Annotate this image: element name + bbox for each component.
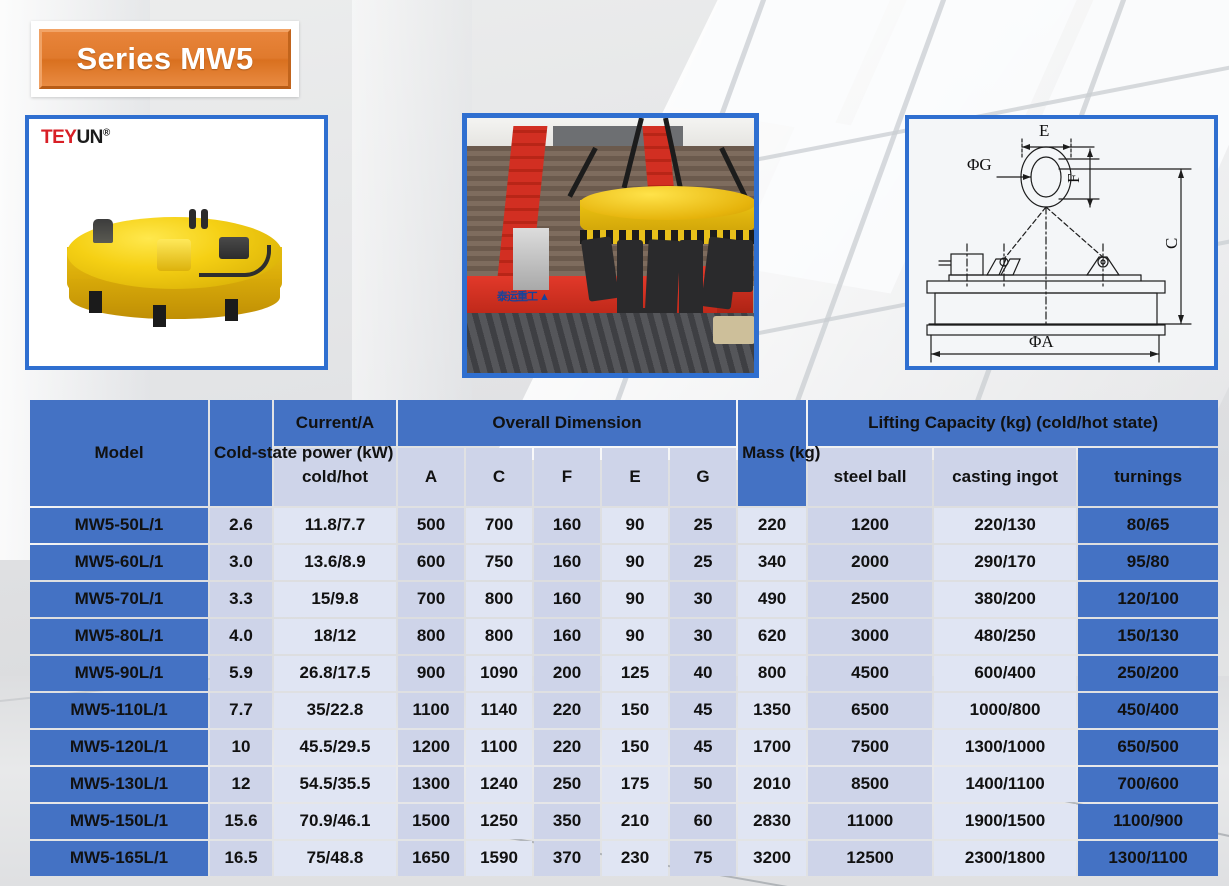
col-header-c: C	[466, 448, 532, 506]
cell-mass: 340	[738, 545, 806, 580]
cell-turnings: 700/600	[1078, 767, 1218, 802]
cell-dim-e: 150	[602, 693, 668, 728]
lifting-magnet-illustration	[29, 119, 324, 366]
col-header-f: F	[534, 448, 600, 506]
cell-current: 45.5/29.5	[274, 730, 396, 765]
col-header-g: G	[670, 448, 736, 506]
cell-model: MW5-110L/1	[30, 693, 208, 728]
cell-power: 5.9	[210, 656, 272, 691]
table-row: MW5-90L/15.926.8/17.59001090200125408004…	[30, 656, 1218, 691]
table-row: MW5-165L/116.575/48.81650159037023075320…	[30, 841, 1218, 876]
cell-turnings: 80/65	[1078, 508, 1218, 543]
specification-table: Model Cold-state power (kW) Current/A Ov…	[28, 398, 1220, 878]
cell-dim-f: 160	[534, 545, 600, 580]
cell-dim-f: 160	[534, 582, 600, 617]
table-row: MW5-70L/13.315/9.87008001609030490250038…	[30, 582, 1218, 617]
cell-current: 18/12	[274, 619, 396, 654]
cell-model: MW5-80L/1	[30, 619, 208, 654]
cell-dim-c: 1590	[466, 841, 532, 876]
drawing-label-e: E	[1039, 121, 1049, 140]
cell-current: 26.8/17.5	[274, 656, 396, 691]
cell-dim-c: 1250	[466, 804, 532, 839]
cell-power: 4.0	[210, 619, 272, 654]
cell-model: MW5-50L/1	[30, 508, 208, 543]
cell-casting-ingot: 1900/1500	[934, 804, 1076, 839]
table-row: MW5-60L/13.013.6/8.960075016090253402000…	[30, 545, 1218, 580]
col-header-cold-state-power: Cold-state power (kW)	[210, 400, 272, 506]
cell-dim-f: 250	[534, 767, 600, 802]
table-row: MW5-50L/12.611.8/7.750070016090252201200…	[30, 508, 1218, 543]
cell-power: 7.7	[210, 693, 272, 728]
cell-model: MW5-130L/1	[30, 767, 208, 802]
cell-dim-g: 50	[670, 767, 736, 802]
cell-power: 2.6	[210, 508, 272, 543]
cell-casting-ingot: 220/130	[934, 508, 1076, 543]
cell-turnings: 450/400	[1078, 693, 1218, 728]
cell-turnings: 150/130	[1078, 619, 1218, 654]
cell-model: MW5-165L/1	[30, 841, 208, 876]
cell-dim-e: 90	[602, 619, 668, 654]
cell-steel-ball: 2000	[808, 545, 932, 580]
cell-dim-g: 25	[670, 508, 736, 543]
cell-casting-ingot: 290/170	[934, 545, 1076, 580]
table-row: MW5-110L/17.735/22.811001140220150451350…	[30, 693, 1218, 728]
cell-dim-a: 600	[398, 545, 464, 580]
cell-turnings: 95/80	[1078, 545, 1218, 580]
cell-casting-ingot: 1300/1000	[934, 730, 1076, 765]
cell-mass: 490	[738, 582, 806, 617]
cell-dim-f: 370	[534, 841, 600, 876]
cell-casting-ingot: 600/400	[934, 656, 1076, 691]
cell-dim-e: 175	[602, 767, 668, 802]
cell-casting-ingot: 1400/1100	[934, 767, 1076, 802]
cell-casting-ingot: 380/200	[934, 582, 1076, 617]
cell-dim-f: 200	[534, 656, 600, 691]
cell-dim-c: 1140	[466, 693, 532, 728]
cell-dim-g: 75	[670, 841, 736, 876]
cell-power: 10	[210, 730, 272, 765]
cell-dim-e: 90	[602, 545, 668, 580]
cell-dim-a: 700	[398, 582, 464, 617]
cell-model: MW5-70L/1	[30, 582, 208, 617]
cell-power: 15.6	[210, 804, 272, 839]
cell-dim-c: 1240	[466, 767, 532, 802]
cell-power: 16.5	[210, 841, 272, 876]
cell-turnings: 650/500	[1078, 730, 1218, 765]
cell-steel-ball: 1200	[808, 508, 932, 543]
cell-dim-e: 90	[602, 582, 668, 617]
cell-dim-c: 800	[466, 619, 532, 654]
cell-steel-ball: 6500	[808, 693, 932, 728]
cell-dim-f: 220	[534, 693, 600, 728]
cell-mass: 800	[738, 656, 806, 691]
cell-dim-f: 160	[534, 619, 600, 654]
cell-dim-c: 750	[466, 545, 532, 580]
cell-power: 3.0	[210, 545, 272, 580]
drawing-label-c: C	[1162, 238, 1181, 249]
cell-dim-a: 1500	[398, 804, 464, 839]
cell-dim-a: 500	[398, 508, 464, 543]
table-body: MW5-50L/12.611.8/7.750070016090252201200…	[30, 508, 1218, 876]
cell-current: 13.6/8.9	[274, 545, 396, 580]
cell-dim-g: 30	[670, 582, 736, 617]
cell-current: 15/9.8	[274, 582, 396, 617]
cell-steel-ball: 8500	[808, 767, 932, 802]
cell-steel-ball: 2500	[808, 582, 932, 617]
cell-turnings: 1100/900	[1078, 804, 1218, 839]
cell-mass: 3200	[738, 841, 806, 876]
cell-casting-ingot: 1000/800	[934, 693, 1076, 728]
table-row: MW5-150L/115.670.9/46.115001250350210602…	[30, 804, 1218, 839]
cell-dim-f: 160	[534, 508, 600, 543]
col-header-steel-ball: steel ball	[808, 448, 932, 506]
cell-dim-a: 1650	[398, 841, 464, 876]
cell-dim-g: 40	[670, 656, 736, 691]
cell-model: MW5-60L/1	[30, 545, 208, 580]
drawing-label-a: ΦA	[1029, 332, 1054, 351]
table-header-row-top: Model Cold-state power (kW) Current/A Ov…	[30, 400, 1218, 446]
cell-dim-c: 800	[466, 582, 532, 617]
col-header-casting-ingot: casting ingot	[934, 448, 1076, 506]
cell-mass: 2010	[738, 767, 806, 802]
technical-drawing: E ΦG F C ΦA	[905, 115, 1218, 370]
col-header-mass: Mass (kg)	[738, 400, 806, 506]
cell-mass: 620	[738, 619, 806, 654]
cell-mass: 1700	[738, 730, 806, 765]
product-photo: TEYUN®	[25, 115, 328, 370]
cell-dim-g: 60	[670, 804, 736, 839]
cell-dim-f: 220	[534, 730, 600, 765]
table-row: MW5-80L/14.018/1280080016090306203000480…	[30, 619, 1218, 654]
cell-dim-a: 1200	[398, 730, 464, 765]
cell-steel-ball: 7500	[808, 730, 932, 765]
cell-model: MW5-150L/1	[30, 804, 208, 839]
cell-dim-e: 210	[602, 804, 668, 839]
cell-model: MW5-90L/1	[30, 656, 208, 691]
cell-mass: 220	[738, 508, 806, 543]
col-header-lifting-capacity: Lifting Capacity (kg) (cold/hot state)	[808, 400, 1218, 446]
cell-dim-g: 45	[670, 693, 736, 728]
cell-current: 70.9/46.1	[274, 804, 396, 839]
cell-dim-a: 1300	[398, 767, 464, 802]
cell-current: 35/22.8	[274, 693, 396, 728]
cell-turnings: 120/100	[1078, 582, 1218, 617]
cell-turnings: 1300/1100	[1078, 841, 1218, 876]
cell-steel-ball: 11000	[808, 804, 932, 839]
cell-dim-c: 700	[466, 508, 532, 543]
cell-model: MW5-120L/1	[30, 730, 208, 765]
col-header-e: E	[602, 448, 668, 506]
col-header-model: Model	[30, 400, 208, 506]
cell-turnings: 250/200	[1078, 656, 1218, 691]
cell-mass: 2830	[738, 804, 806, 839]
cell-dim-a: 800	[398, 619, 464, 654]
slide-canvas: Series MW5 TEYUN®	[0, 0, 1229, 886]
col-header-current: Current/A	[274, 400, 396, 446]
cell-dim-a: 1100	[398, 693, 464, 728]
cell-power: 3.3	[210, 582, 272, 617]
cell-power: 12	[210, 767, 272, 802]
page-title: Series MW5	[76, 41, 253, 77]
title-banner-inner: Series MW5	[39, 29, 291, 89]
cell-steel-ball: 12500	[808, 841, 932, 876]
cell-dim-e: 230	[602, 841, 668, 876]
cell-mass: 1350	[738, 693, 806, 728]
cell-steel-ball: 3000	[808, 619, 932, 654]
cell-dim-e: 90	[602, 508, 668, 543]
table-header-row-sub: cold/hot A C F E G steel ball casting in…	[30, 448, 1218, 506]
cell-dim-g: 45	[670, 730, 736, 765]
cell-dim-g: 25	[670, 545, 736, 580]
cell-casting-ingot: 2300/1800	[934, 841, 1076, 876]
cell-current: 54.5/35.5	[274, 767, 396, 802]
col-header-overall-dimension: Overall Dimension	[398, 400, 736, 446]
cell-dim-f: 350	[534, 804, 600, 839]
table-header: Model Cold-state power (kW) Current/A Ov…	[30, 400, 1218, 506]
drawing-label-g: ΦG	[967, 155, 992, 174]
cell-dim-g: 30	[670, 619, 736, 654]
title-banner: Series MW5	[31, 21, 299, 97]
cell-casting-ingot: 480/250	[934, 619, 1076, 654]
cell-dim-c: 1090	[466, 656, 532, 691]
table-row: MW5-130L/11254.5/35.51300124025017550201…	[30, 767, 1218, 802]
cell-dim-a: 900	[398, 656, 464, 691]
cell-dim-c: 1100	[466, 730, 532, 765]
application-photo: 泰运重工 ▲	[462, 113, 759, 378]
col-header-a: A	[398, 448, 464, 506]
cell-current: 75/48.8	[274, 841, 396, 876]
cell-dim-e: 150	[602, 730, 668, 765]
cell-steel-ball: 4500	[808, 656, 932, 691]
drawing-label-f: F	[1064, 174, 1083, 183]
col-header-turnings: turnings	[1078, 448, 1218, 506]
cell-current: 11.8/7.7	[274, 508, 396, 543]
cell-dim-e: 125	[602, 656, 668, 691]
table-row: MW5-120L/11045.5/29.51200110022015045170…	[30, 730, 1218, 765]
